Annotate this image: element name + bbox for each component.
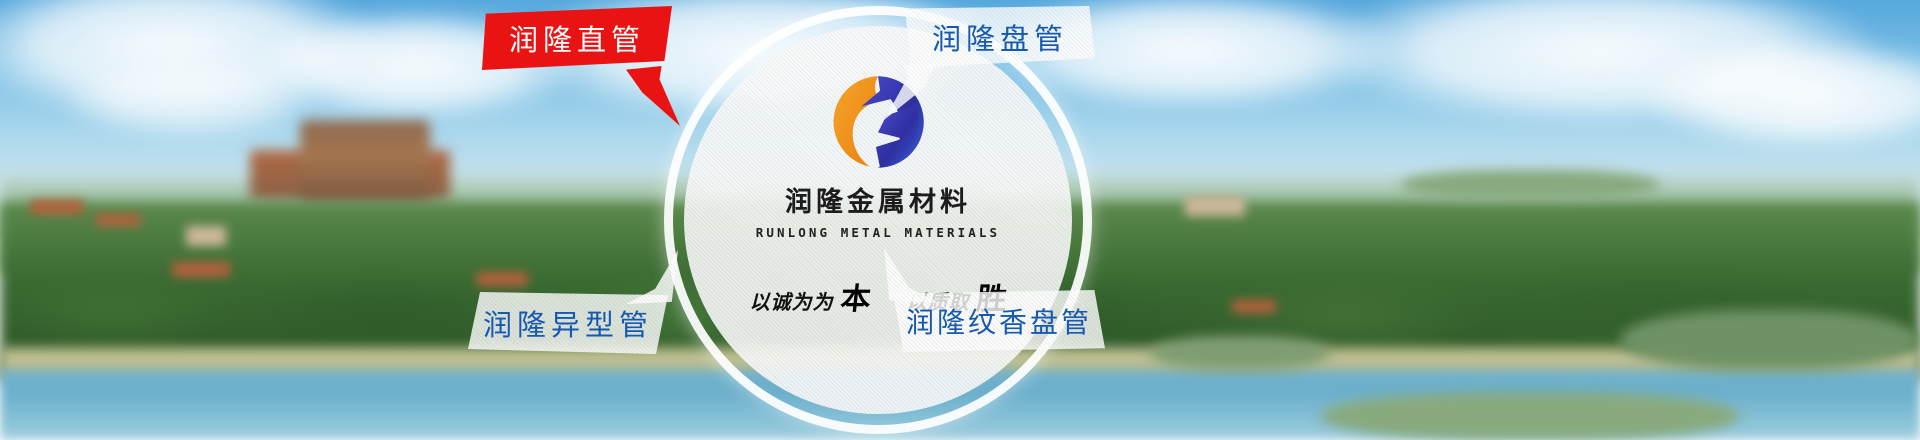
callout-straight-pipe[interactable]: 润隆直管 (482, 6, 672, 70)
rooftop (95, 214, 141, 226)
island (1620, 310, 1920, 370)
pagoda-building (300, 120, 430, 200)
callout-coil-pipe[interactable]: 润隆盘管 (905, 6, 1095, 68)
callout-textured-coil[interactable]: 润隆纹香盘管 (893, 290, 1105, 352)
slogan-left-small: 以诚为为 (750, 286, 834, 315)
house (1185, 196, 1245, 216)
promo-banner: 润隆金属材料 RUNLONG METAL MATERIALS 以诚为为 本 以质… (0, 0, 1920, 440)
far-island (1400, 170, 1660, 200)
callout-label-special-pipe: 润隆异型管 (483, 302, 653, 344)
callout-label-textured-coil: 润隆纹香盘管 (906, 301, 1092, 341)
rooftop (30, 200, 84, 214)
rooftop (172, 262, 230, 277)
island (1150, 336, 1330, 370)
logo-disc: 润隆金属材料 RUNLONG METAL MATERIALS 以诚为为 本 以质… (684, 26, 1072, 414)
slogan-phrase-left: 以诚为为 本 (750, 274, 871, 318)
company-name-en: RUNLONG METAL MATERIALS (756, 225, 1000, 240)
rooftop (476, 272, 528, 286)
callout-label-coil-pipe: 润隆盘管 (932, 16, 1068, 58)
callout-special-pipe[interactable]: 润隆异型管 (468, 292, 668, 354)
island (1320, 392, 1740, 440)
slogan-left-big: 本 (838, 274, 873, 318)
house (186, 226, 226, 246)
cloud (60, 60, 320, 140)
callout-label-straight-pipe: 润隆直管 (509, 17, 645, 59)
rooftop (1232, 300, 1276, 313)
company-name-cn: 润隆金属材料 (785, 180, 971, 219)
